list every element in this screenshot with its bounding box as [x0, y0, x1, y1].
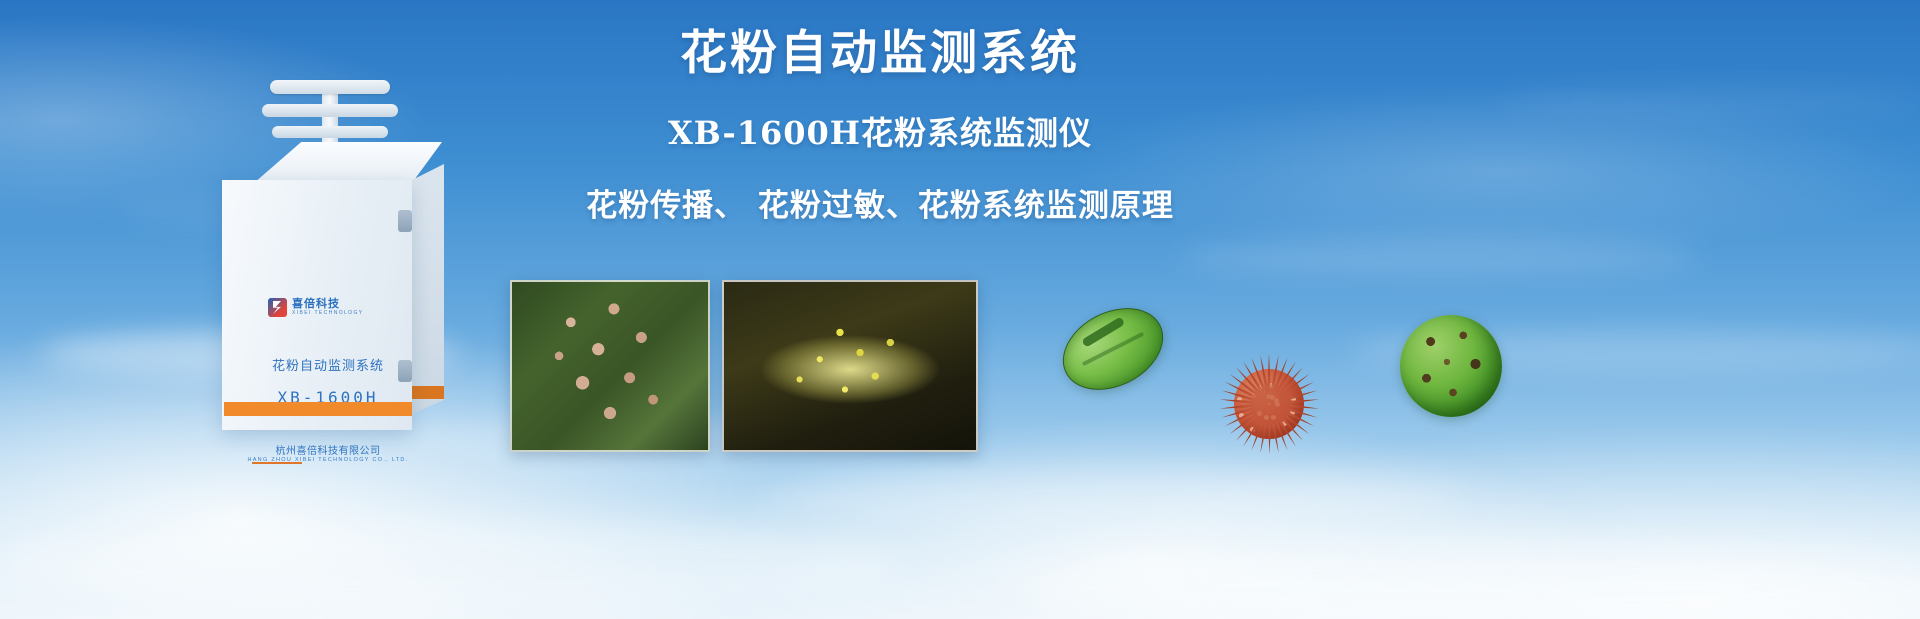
- xibei-logo-icon: [268, 298, 287, 317]
- brand-name-en: XIBEI TECHNOLOGY: [292, 311, 364, 317]
- device-rain-cap-bottom: [272, 126, 388, 138]
- photo-catkin-flower: [722, 280, 978, 452]
- device-brand-logo: 喜倍科技 XIBEI TECHNOLOGY: [268, 298, 364, 317]
- pollen-monitor-device: 喜倍科技 XIBEI TECHNOLOGY 花粉自动监测系统 XB-1600H …: [200, 80, 460, 430]
- subtitle-topics: 花粉传播、 花粉过敏、花粉系统监测原理: [560, 180, 1200, 225]
- cloud-streak: [1000, 545, 1920, 619]
- cloud-streak: [1180, 240, 1700, 274]
- photo-cypress-pollen-cones: [510, 280, 710, 452]
- green-warty-grain-icon: [1400, 315, 1502, 417]
- device-rain-cap-middle: [262, 104, 398, 117]
- device-accent-strip: [224, 402, 412, 416]
- subtitle-model: XB-1600H花粉系统监测仪: [560, 108, 1200, 154]
- pollen-monitoring-banner: 喜倍科技 XIBEI TECHNOLOGY 花粉自动监测系统 XB-1600H …: [0, 0, 1920, 619]
- cloud-streak: [1500, 90, 1920, 114]
- cloud-streak: [760, 470, 1460, 526]
- device-chimney: [322, 90, 338, 150]
- device-company-cn: 杭州喜倍科技有限公司: [222, 442, 434, 457]
- red-spiky-grain-icon: [1220, 355, 1318, 453]
- device-latch-lower: [398, 360, 412, 382]
- device-front-panel: 喜倍科技 XIBEI TECHNOLOGY 花粉自动监测系统 XB-1600H …: [222, 180, 412, 430]
- device-rain-cap-top: [270, 80, 390, 94]
- device-company-en: HANG ZHOU XIBEI TECHNOLOGY CO., LTD.: [222, 457, 434, 463]
- page-title: 花粉自动监测系统: [560, 28, 1200, 80]
- cloud-streak: [0, 520, 900, 610]
- device-latch-upper: [398, 210, 412, 232]
- headline-block: 花粉自动监测系统 XB-1600H花粉系统监测仪 花粉传播、 花粉过敏、花粉系统…: [560, 28, 1200, 225]
- green-smooth-grain-icon: [1049, 292, 1177, 406]
- brand-name-cn: 喜倍科技: [292, 299, 364, 311]
- device-side-panel: [412, 164, 444, 414]
- device-roof: [222, 142, 442, 184]
